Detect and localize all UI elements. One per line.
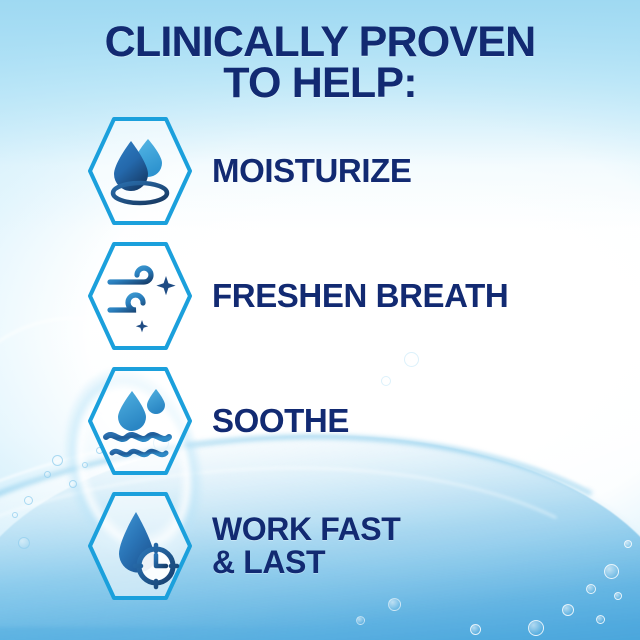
page-title: CLINICALLY PROVEN TO HELP: (0, 22, 640, 105)
bubble (596, 615, 605, 624)
infographic-canvas: CLINICALLY PROVEN TO HELP: (0, 0, 640, 640)
headline-line-2: TO HELP: (0, 63, 640, 104)
wind-sparkle-icon (86, 240, 194, 352)
bubble (470, 624, 481, 635)
water-drops-ripple-icon (86, 115, 194, 227)
feature-item-work-fast-and-last: WORK FAST & LAST (0, 483, 640, 608)
feature-label: WORK FAST & LAST (212, 513, 400, 578)
headline-line-1: CLINICALLY PROVEN (0, 22, 640, 63)
droplet-waves-icon (86, 365, 194, 477)
feature-item-soothe: SOOTHE (0, 358, 640, 483)
bubble (356, 616, 365, 625)
droplet-clock-icon (86, 490, 194, 602)
feature-label: FRESHEN BREATH (212, 279, 508, 313)
feature-item-freshen-breath: FRESHEN BREATH (0, 233, 640, 358)
hexagon-badge (86, 115, 194, 227)
hexagon-badge (86, 490, 194, 602)
feature-label: SOOTHE (212, 404, 349, 438)
bubble (528, 620, 544, 636)
feature-list: MOISTURIZE (0, 108, 640, 608)
feature-item-moisturize: MOISTURIZE (0, 108, 640, 233)
hexagon-badge (86, 240, 194, 352)
hexagon-badge (86, 365, 194, 477)
feature-label: MOISTURIZE (212, 154, 412, 188)
